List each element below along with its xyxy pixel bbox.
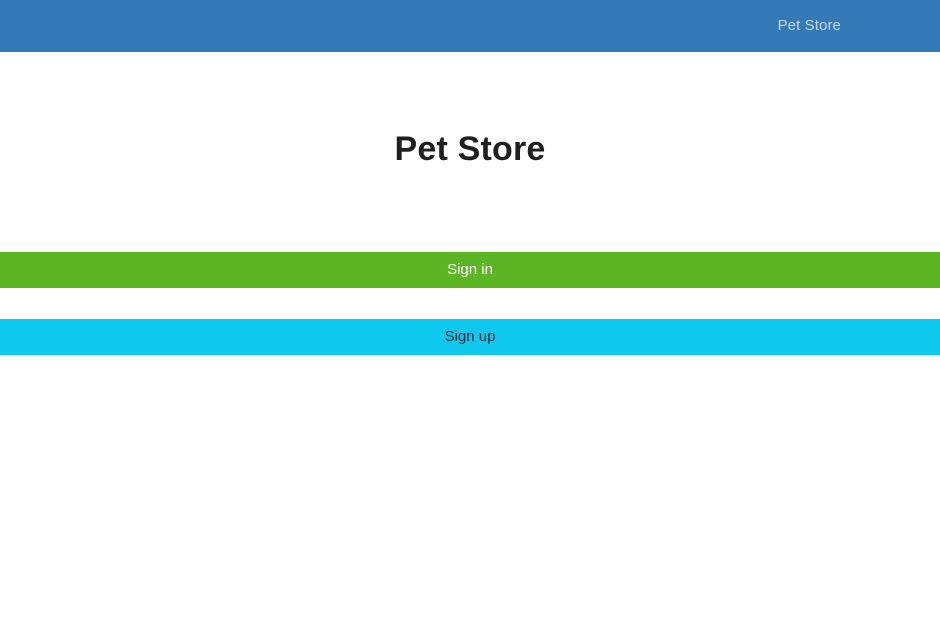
- button-spacer: [0, 288, 940, 319]
- sign-in-button[interactable]: Sign in: [0, 252, 940, 288]
- hero-section: Pet Store: [0, 52, 940, 252]
- navbar-pet-store-link[interactable]: Pet Store: [778, 16, 841, 36]
- page-title: Pet Store: [394, 130, 545, 169]
- empty-content-area: [0, 355, 940, 626]
- top-navbar: Pet Store: [0, 0, 940, 52]
- sign-up-button[interactable]: Sign up: [0, 319, 940, 355]
